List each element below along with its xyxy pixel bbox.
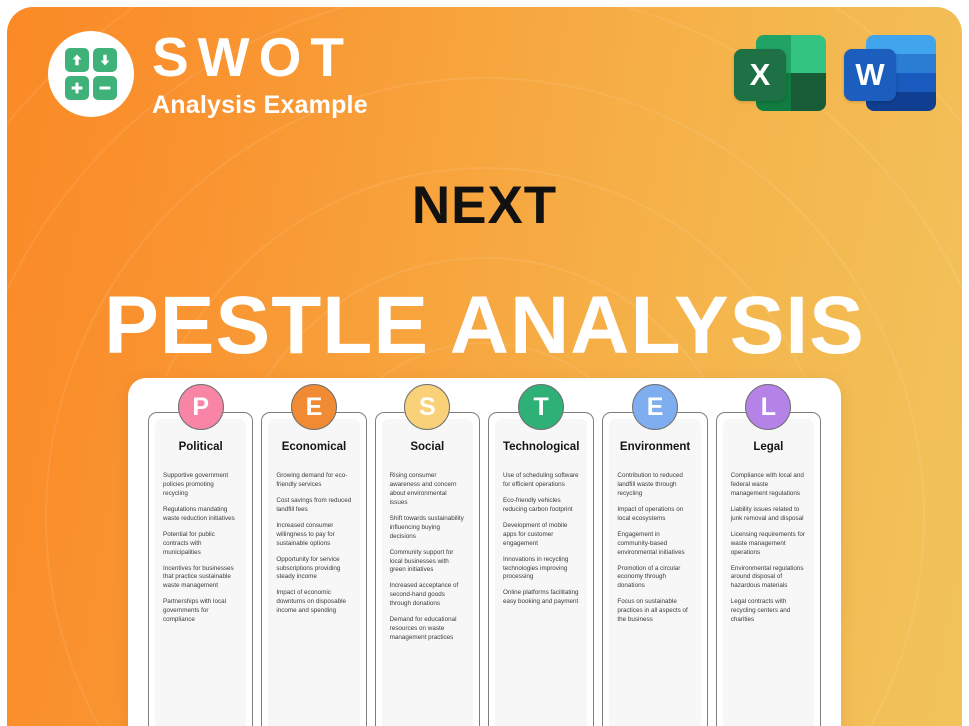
column-badge-environment: E [632,384,678,430]
pestle-column-economical[interactable]: EEconomicalGrowing demand for eco-friend… [261,412,366,726]
column-title: Legal [731,441,806,453]
office-icons: X W [734,32,936,114]
bullet-item: Legal contracts with recycling centers a… [731,598,806,625]
bullet-item: Use of scheduling software for efficient… [503,472,579,490]
column-bullets: Contribution to reduced landfill waste t… [617,472,692,625]
excel-icon: X [734,32,826,114]
bullet-item: Increased consumer willingness to pay fo… [276,522,351,549]
column-content: EconomicalGrowing demand for eco-friendl… [268,419,359,726]
slide-background: SWOT Analysis Example X [7,7,962,726]
bullet-item: Cost savings from reduced landfill fees [276,497,351,515]
bullet-item: Partnerships with local governments for … [163,598,238,625]
bullet-item: Engagement in community-based environmen… [617,531,692,558]
excel-icon-letter: X [734,49,786,101]
brand-lockup: SWOT Analysis Example [48,30,368,118]
bullet-item: Impact of operations on local ecosystems [617,506,692,524]
bullet-item: Community support for local businesses w… [390,549,465,576]
column-content: SocialRising consumer awareness and conc… [382,419,473,726]
bullet-item: Incentives for businesses that practice … [163,565,238,592]
bullet-item: Opportunity for service subscriptions pr… [276,556,351,583]
bullet-item: Shift towards sustainability influencing… [390,515,465,542]
bullet-item: Impact of economic downturns on disposab… [276,589,351,616]
bullet-item: Promotion of a circular economy through … [617,565,692,592]
brand-title: SWOT [152,30,368,85]
column-title: Economical [276,441,351,453]
pestle-column-social[interactable]: SSocialRising consumer awareness and con… [375,412,480,726]
arrow-down-icon [93,48,117,72]
column-content: EnvironmentContribution to reduced landf… [609,419,700,726]
column-content: TechnologicalUse of scheduling software … [495,419,587,726]
column-badge-technological: T [518,384,564,430]
pestle-column-legal[interactable]: LLegalCompliance with local and federal … [716,412,821,726]
bullet-item: Rising consumer awareness and concern ab… [390,472,465,508]
column-badge-political: P [178,384,224,430]
column-bullets: Growing demand for eco-friendly services… [276,472,351,616]
column-bullets: Compliance with local and federal waste … [731,472,806,625]
bullet-item: Liability issues related to junk removal… [731,506,806,524]
pestle-column-technological[interactable]: TTechnologicalUse of scheduling software… [488,412,594,726]
pestle-column-environment[interactable]: EEnvironmentContribution to reduced land… [602,412,707,726]
column-badge-legal: L [745,384,791,430]
bullet-item: Licensing requirements for waste managem… [731,531,806,558]
bullet-item: Increased acceptance of second-hand good… [390,582,465,609]
column-content: LegalCompliance with local and federal w… [723,419,814,726]
column-title: Political [163,441,238,453]
bullet-item: Potential for public contracts with muni… [163,531,238,558]
column-content: PoliticalSupportive government policies … [155,419,246,726]
bullet-item: Environmental regulations around disposa… [731,565,806,592]
plus-icon [65,76,89,100]
slide-root: SWOT Analysis Example X [0,0,969,726]
pestle-column-political[interactable]: PPoliticalSupportive government policies… [148,412,253,726]
pestle-columns: PPoliticalSupportive government policies… [148,412,821,726]
bullet-item: Demand for educational resources on wast… [390,616,465,643]
excel-tile-2 [791,35,826,73]
brand-subtitle: Analysis Example [152,93,368,118]
column-title: Technological [503,441,579,453]
word-icon-letter: W [844,49,896,101]
column-title: Environment [617,441,692,453]
bullet-item: Eco-friendly vehicles reducing carbon fo… [503,497,579,515]
next-label: NEXT [7,175,962,236]
bullet-item: Growing demand for eco-friendly services [276,472,351,490]
bullet-item: Innovations in recycling technologies im… [503,556,579,583]
column-title: Social [390,441,465,453]
column-bullets: Supportive government policies promoting… [163,472,238,625]
brand-text: SWOT Analysis Example [152,30,368,118]
word-icon: W [844,32,936,114]
bullet-item: Compliance with local and federal waste … [731,472,806,499]
page-title: PESTLE ANALYSIS [7,279,962,373]
bullet-item: Regulations mandating waste reduction in… [163,506,238,524]
bullet-item: Focus on sustainable practices in all as… [617,598,692,625]
logo-grid [65,48,117,100]
column-badge-social: S [404,384,450,430]
arrow-up-icon [65,48,89,72]
excel-tile-4 [791,73,826,111]
column-bullets: Use of scheduling software for efficient… [503,472,579,607]
pestle-panel: PPoliticalSupportive government policies… [128,378,841,726]
bullet-item: Development of mobile apps for customer … [503,522,579,549]
minus-icon [93,76,117,100]
swot-logo [48,31,134,117]
column-badge-economical: E [291,384,337,430]
bullet-item: Contribution to reduced landfill waste t… [617,472,692,499]
bullet-item: Supportive government policies promoting… [163,472,238,499]
bullet-item: Online platforms facilitating easy booki… [503,589,579,607]
column-bullets: Rising consumer awareness and concern ab… [390,472,465,643]
